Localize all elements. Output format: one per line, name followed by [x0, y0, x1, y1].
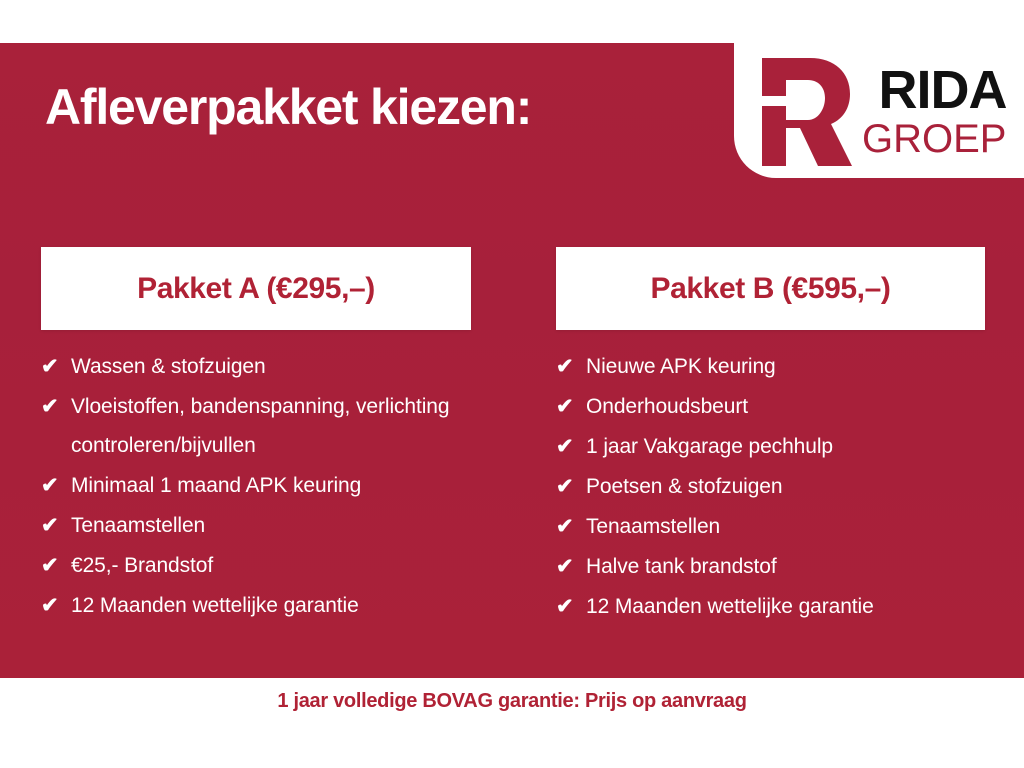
- slide-canvas: RIDA GROEP Afleverpakket kiezen: Pakket …: [0, 0, 1024, 768]
- package-b-title: Pakket B (€595,–): [650, 272, 890, 306]
- page-title: Afleverpakket kiezen:: [45, 78, 531, 136]
- check-icon: ✔: [556, 587, 586, 626]
- brand-logo[interactable]: RIDA GROEP: [734, 43, 1024, 178]
- check-icon: ✔: [556, 427, 586, 466]
- footer-note: 1 jaar volledige BOVAG garantie: Prijs o…: [277, 690, 746, 713]
- check-icon: ✔: [556, 467, 586, 506]
- feature-label: Poetsen & stofzuigen: [586, 467, 985, 506]
- feature-label: 1 jaar Vakgarage pechhulp: [586, 427, 985, 466]
- package-columns: Pakket A (€295,–) ✔ Wassen & stofzuigen …: [0, 247, 1024, 627]
- package-b-feature-list: ✔ Nieuwe APK keuring ✔ Onderhoudsbeurt ✔…: [556, 347, 985, 626]
- list-item: ✔ Nieuwe APK keuring: [556, 347, 985, 386]
- check-icon: ✔: [556, 547, 586, 586]
- feature-label: Nieuwe APK keuring: [586, 347, 985, 386]
- list-item: ✔ Tenaamstellen: [556, 507, 985, 546]
- list-item: ✔ Halve tank brandstof: [556, 547, 985, 586]
- feature-label: Tenaamstellen: [586, 507, 985, 546]
- brand-name-primary: RIDA: [878, 63, 1006, 117]
- rida-r-monogram-icon: [752, 54, 856, 170]
- feature-label: Halve tank brandstof: [586, 547, 985, 586]
- brand-wordmark: RIDA GROEP: [862, 63, 1006, 159]
- list-item: ✔ Onderhoudsbeurt: [556, 387, 985, 426]
- brand-name-secondary: GROEP: [862, 119, 1006, 159]
- list-item: ✔ 12 Maanden wettelijke garantie: [556, 587, 985, 626]
- list-item: ✔ 1 jaar Vakgarage pechhulp: [556, 427, 985, 466]
- check-icon: ✔: [556, 507, 586, 546]
- package-column-b: Pakket B (€595,–) ✔ Nieuwe APK keuring ✔…: [0, 247, 1024, 627]
- feature-label: 12 Maanden wettelijke garantie: [586, 587, 985, 626]
- feature-label: Onderhoudsbeurt: [586, 387, 985, 426]
- list-item: ✔ Poetsen & stofzuigen: [556, 467, 985, 506]
- check-icon: ✔: [556, 347, 586, 386]
- check-icon: ✔: [556, 387, 586, 426]
- footer-bar: 1 jaar volledige BOVAG garantie: Prijs o…: [0, 678, 1024, 768]
- package-b-header-card[interactable]: Pakket B (€595,–): [556, 247, 985, 330]
